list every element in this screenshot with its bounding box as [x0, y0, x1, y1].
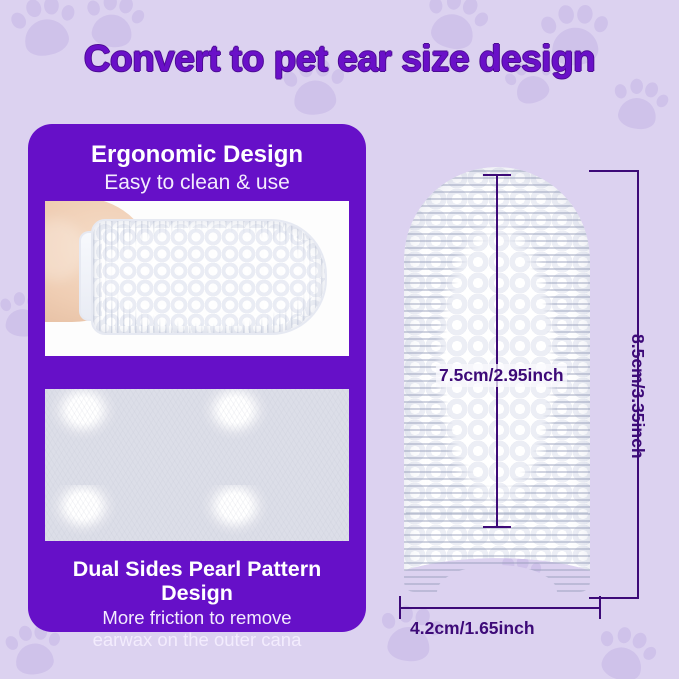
feature-card: Ergonomic Design Easy to clean & use Dua…: [28, 124, 366, 632]
pearl-pattern-fabric-photo: [45, 389, 349, 541]
total-height-dimension-label: 8.5cm/3.35inch: [627, 334, 648, 459]
product-bottom-notch: [437, 565, 557, 619]
pearl-textured-pad: [91, 219, 327, 335]
feature-card-heading: Ergonomic Design: [38, 142, 356, 169]
finger-wearing-pad-photo: [45, 201, 349, 356]
page-title: Convert to pet ear size design: [0, 38, 679, 80]
width-dimension-tick-right: [599, 596, 601, 619]
total-height-dimension-tick-bottom: [589, 597, 639, 599]
feature-card-bottom-sub-line2: earwax on the outer cana: [38, 629, 356, 651]
feature-card-subheading: Easy to clean & use: [38, 171, 356, 196]
total-height-dimension-tick-top: [589, 170, 639, 172]
feature-card-bottom-heading: Dual Sides Pearl Pattern Design: [38, 557, 356, 605]
width-dimension-line: [399, 607, 601, 609]
feature-card-bottom-sub-line1: More friction to remove: [38, 607, 356, 629]
height-dimension-tick-bottom: [483, 526, 511, 528]
width-dimension-label: 4.2cm/1.65inch: [410, 618, 535, 639]
product-infographic-poster: Convert to pet ear size design Ergonomic…: [0, 0, 679, 679]
height-dimension-tick-top: [483, 174, 511, 176]
height-dimension-label: 7.5cm/2.95inch: [436, 364, 567, 387]
height-dimension-line: [496, 174, 498, 527]
fabric-texture: [45, 389, 349, 541]
width-dimension-tick-left: [399, 596, 401, 619]
